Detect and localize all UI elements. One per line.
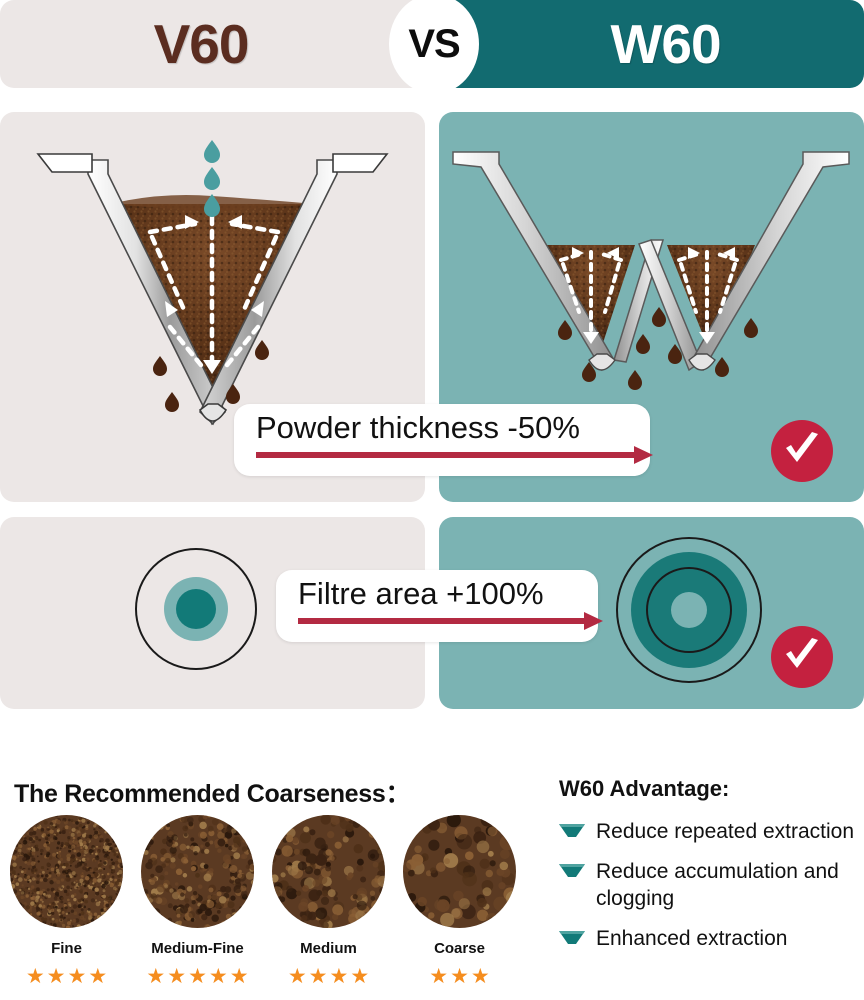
v60-filter-area-diagram bbox=[133, 546, 259, 677]
dripper-trapezoid-icon bbox=[559, 930, 585, 950]
star-icon: ★ bbox=[68, 966, 87, 987]
star-icon: ★ bbox=[146, 966, 165, 987]
advantage-item: Enhanced extraction bbox=[559, 925, 859, 953]
star-icon: ★ bbox=[350, 966, 369, 987]
star-icon: ★ bbox=[471, 966, 490, 987]
check-circle-icon-row2 bbox=[771, 626, 833, 688]
star-icon: ★ bbox=[47, 966, 66, 987]
star-rating: ★★★★ bbox=[26, 966, 107, 987]
coarseness-label: Medium-Fine bbox=[151, 940, 244, 957]
star-icon: ★ bbox=[167, 966, 186, 987]
arrow-right-icon bbox=[298, 612, 576, 630]
star-icon: ★ bbox=[429, 966, 448, 987]
header-v60-side: V60 bbox=[0, 0, 432, 88]
star-icon: ★ bbox=[230, 966, 249, 987]
coarseness-item: Medium-Fine★★★★★ bbox=[141, 815, 254, 987]
advantage-list: Reduce repeated extractionReduce accumul… bbox=[559, 818, 859, 965]
star-rating: ★★★★★ bbox=[146, 966, 248, 987]
bottom-section: The Recommended Coarseness： Fine★★★★Medi… bbox=[0, 730, 864, 1000]
grind-texture-medium-fine bbox=[141, 815, 254, 928]
star-icon: ★ bbox=[450, 966, 469, 987]
coarseness-item: Fine★★★★ bbox=[10, 815, 123, 987]
coarseness-label: Medium bbox=[300, 940, 357, 957]
star-icon: ★ bbox=[209, 966, 228, 987]
coarseness-list: Fine★★★★Medium-Fine★★★★★Medium★★★★Coarse… bbox=[10, 815, 530, 987]
grind-texture-fine bbox=[10, 815, 123, 928]
advantage-text: Enhanced extraction bbox=[596, 925, 787, 953]
coarseness-label: Fine bbox=[51, 940, 82, 957]
filter-area-banner: Filtre area +100% bbox=[276, 570, 598, 642]
coarseness-item: Coarse★★★ bbox=[403, 815, 516, 987]
grind-texture-medium bbox=[272, 815, 385, 928]
star-icon: ★ bbox=[330, 966, 349, 987]
v60-title: V60 bbox=[154, 12, 249, 76]
w60-title: W60 bbox=[610, 12, 720, 76]
coarseness-label: Coarse bbox=[434, 940, 485, 957]
star-rating: ★★★★ bbox=[288, 966, 369, 987]
coarseness-title: The Recommended Coarseness： bbox=[14, 774, 410, 810]
header-w60-side: W60 bbox=[432, 0, 864, 88]
star-icon: ★ bbox=[288, 966, 307, 987]
star-icon: ★ bbox=[26, 966, 45, 987]
vs-label: VS bbox=[408, 22, 459, 67]
dripper-trapezoid-icon bbox=[559, 823, 585, 843]
dripper-trapezoid-icon bbox=[559, 863, 585, 883]
star-icon: ★ bbox=[309, 966, 328, 987]
advantage-title: W60 Advantage: bbox=[559, 776, 729, 802]
star-icon: ★ bbox=[188, 966, 207, 987]
advantage-text: Reduce repeated extraction bbox=[596, 818, 854, 846]
filter-area-label: Filtre area +100% bbox=[298, 578, 576, 611]
advantage-item: Reduce repeated extraction bbox=[559, 818, 859, 846]
grind-texture-coarse bbox=[403, 815, 516, 928]
advantage-text: Reduce accumulation and clogging bbox=[596, 858, 859, 913]
check-circle-icon-row1 bbox=[771, 420, 833, 482]
powder-thickness-label: Powder thickness -50% bbox=[256, 412, 628, 445]
coarseness-item: Medium★★★★ bbox=[272, 815, 385, 987]
advantage-item: Reduce accumulation and clogging bbox=[559, 858, 859, 913]
arrow-right-icon bbox=[256, 446, 628, 464]
w60-filter-area-diagram bbox=[614, 535, 764, 690]
star-icon: ★ bbox=[88, 966, 107, 987]
star-rating: ★★★ bbox=[429, 966, 489, 987]
powder-thickness-banner: Powder thickness -50% bbox=[234, 404, 650, 476]
